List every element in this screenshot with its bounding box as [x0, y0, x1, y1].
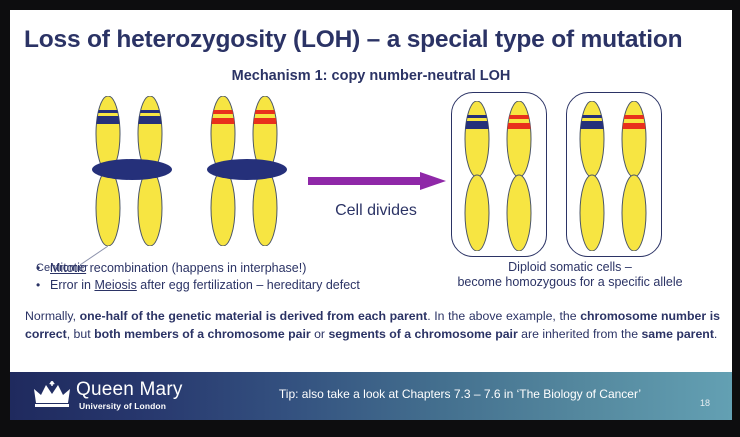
page-number: 18	[700, 398, 710, 408]
footer-bar: Queen Mary University of London Tip: als…	[10, 372, 732, 420]
bullet-suffix: after egg fertilization – hereditary def…	[137, 278, 360, 292]
list-item: • Mitotic recombination (happens in inte…	[36, 260, 456, 277]
logo-subtitle: University of London	[79, 401, 166, 411]
page-title: Loss of heterozygosity (LOH) – a special…	[24, 26, 724, 54]
bullet-underlined-term: Meiosis	[94, 278, 136, 292]
paragraph-seg-4: or	[311, 327, 329, 341]
paragraph-bold-4: segments of a chromosome pair	[328, 327, 517, 341]
bullet-prefix: Error in	[50, 278, 94, 292]
paragraph-seg-3: , but	[67, 327, 94, 341]
cell-divides-arrow-icon	[308, 170, 446, 192]
slide-subtitle: Mechanism 1: copy number-neutral LOH	[10, 68, 732, 84]
slide-frame: Loss of heterozygosity (LOH) – a special…	[10, 10, 732, 420]
paragraph-seg-2: . In the above example, the	[427, 309, 580, 323]
paragraph-bold-5: same parent	[641, 327, 713, 341]
daughter-caption-line-2: become homozygous for a specific allele	[420, 275, 720, 290]
footer-tip-text: Tip: also take a look at Chapters 7.3 – …	[250, 387, 670, 401]
daughter-cell-2-chromosomes	[570, 101, 660, 251]
bullet-text-2: Error in Meiosis after egg fertilization…	[50, 277, 360, 294]
paragraph-bold-3: both members of a chromosome pair	[94, 327, 311, 341]
bullet-text-1: Mitotic recombination (happens in interp…	[50, 260, 306, 277]
chromosome-pair-svg-mixed-2	[570, 101, 660, 251]
summary-paragraph: Normally, one-half of the genetic materi…	[25, 308, 720, 343]
daughter-cell-1	[451, 92, 547, 257]
daughter-caption-line-1: Diploid somatic cells –	[420, 260, 720, 275]
paragraph-seg-5: are inherited from the	[518, 327, 642, 341]
list-item: • Error in Meiosis after egg fertilizati…	[36, 277, 456, 294]
bullet-suffix: recombination (happens in interphase!)	[86, 261, 306, 275]
daughter-cell-1-chromosomes	[455, 101, 545, 251]
centromere-oval	[92, 159, 172, 180]
chromosome-pair-svg-mixed-1	[455, 101, 545, 251]
daughter-cell-2	[566, 92, 662, 257]
centromere-oval	[207, 159, 287, 180]
cell-divides-label: Cell divides	[296, 202, 456, 220]
logo-name: Queen Mary	[76, 379, 183, 401]
daughter-cells-caption: Diploid somatic cells – become homozygou…	[420, 260, 720, 290]
crown-icon	[32, 381, 72, 411]
queen-mary-logo: Queen Mary University of London	[32, 378, 222, 416]
parental-chromosome-pair-blue	[88, 96, 176, 246]
bullet-marker: •	[36, 277, 50, 294]
parental-chromosome-pair-red	[203, 96, 291, 246]
paragraph-bold-1: one-half of the genetic material is deri…	[80, 309, 428, 323]
paragraph-seg-1: Normally,	[25, 309, 80, 323]
bullet-underlined-term: Mitotic	[50, 261, 86, 275]
paragraph-seg-6: .	[714, 327, 717, 341]
bullet-marker: •	[36, 260, 50, 277]
bullet-list: • Mitotic recombination (happens in inte…	[36, 260, 456, 294]
